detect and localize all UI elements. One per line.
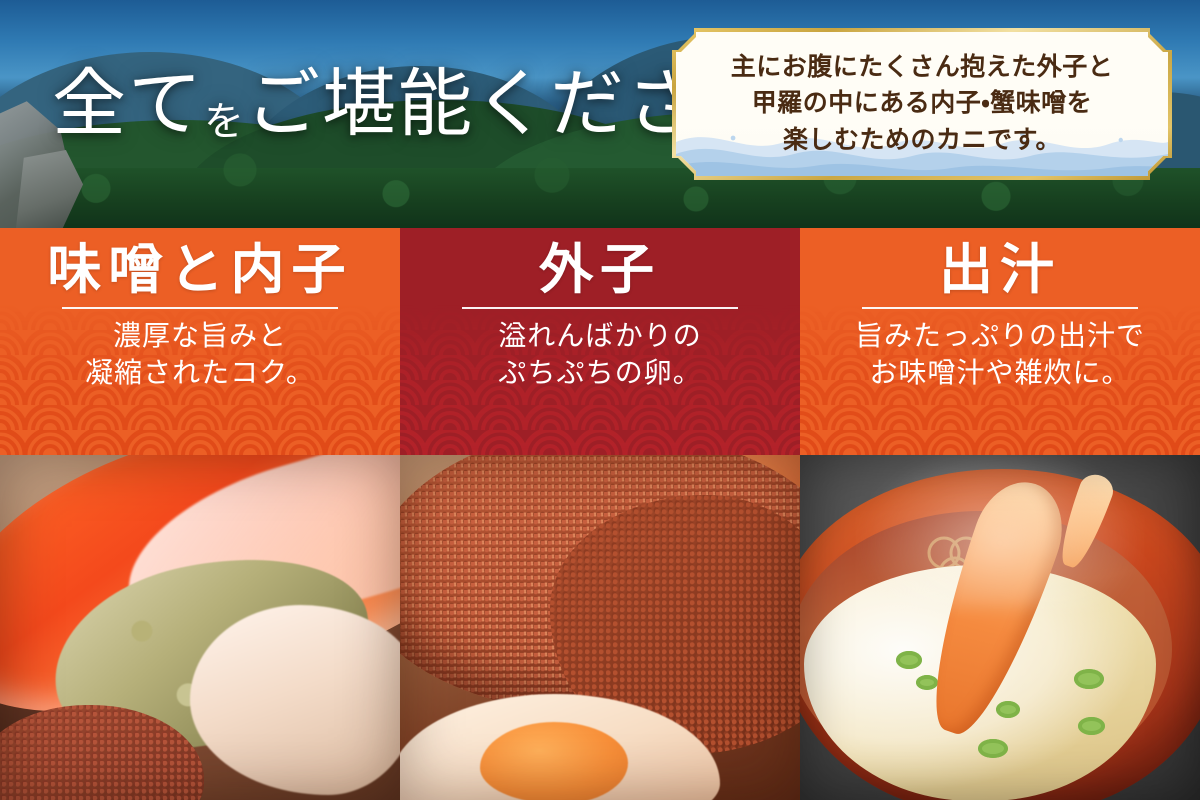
panel-description-line-2: 凝縮されたコク。 — [85, 355, 315, 393]
panel-description: 溢れんばかりの ぷちぷちの卵。 — [498, 318, 702, 393]
description-line-1: 主にお腹にたくさん抱えた外子と — [731, 50, 1114, 86]
photo-vignette — [0, 455, 400, 800]
feature-panel-sotoko[interactable]: 外子 溢れんばかりの ぷちぷちの卵。 — [400, 228, 800, 455]
panel-divider — [862, 307, 1138, 309]
feature-panel-dashi[interactable]: 出汁 旨みたっぷりの出汁で お味噌汁や雑炊に。 — [800, 228, 1200, 455]
panel-title: 味噌と内子 — [48, 242, 353, 299]
description-line-2: 甲羅の中にある内子・蟹味噌を — [752, 86, 1093, 122]
panel-divider — [62, 307, 338, 309]
panel-description-line-1: 旨みたっぷりの出汁で — [855, 318, 1145, 356]
photo-row — [0, 455, 1200, 800]
panel-divider — [462, 307, 738, 309]
headline-particle: を — [204, 99, 246, 144]
promo-banner: 全てをご堪能ください 主にお腹にたくさん抱えた外子と 甲羅の中にある内子・蟹味噌… — [0, 0, 1200, 800]
photo-miso-soup — [800, 455, 1200, 800]
photo-crab-miso — [0, 455, 400, 800]
panel-description-line-2: お味噌汁や雑炊に。 — [855, 355, 1145, 393]
photo-crab-roe — [400, 455, 800, 800]
photo-vignette — [400, 455, 800, 800]
headline-part1: 全て — [52, 64, 204, 146]
description-text: 主にお腹にたくさん抱えた外子と 甲羅の中にある内子・蟹味噌を 楽しむためのカニで… — [676, 32, 1168, 176]
description-panel: 主にお腹にたくさん抱えた外子と 甲羅の中にある内子・蟹味噌を 楽しむためのカニで… — [672, 28, 1172, 180]
panel-description: 旨みたっぷりの出汁で お味噌汁や雑炊に。 — [855, 318, 1145, 393]
panel-description-line-2: ぷちぷちの卵。 — [498, 355, 702, 393]
panel-title: 出汁 — [939, 242, 1061, 299]
panel-description-line-1: 溢れんばかりの — [498, 318, 702, 356]
feature-panel-miso-uchiko[interactable]: 味噌と内子 濃厚な旨みと 凝縮されたコク。 — [0, 228, 400, 455]
page-title: 全てをご堪能ください — [52, 68, 778, 142]
panel-description: 濃厚な旨みと 凝縮されたコク。 — [85, 318, 315, 393]
panel-title: 外子 — [539, 242, 661, 299]
panel-description-line-1: 濃厚な旨みと — [85, 318, 315, 356]
panel-inner: 主にお腹にたくさん抱えた外子と 甲羅の中にある内子・蟹味噌を 楽しむためのカニで… — [676, 32, 1168, 176]
description-line-3: 楽しむためのカニです。 — [783, 123, 1061, 159]
feature-panels: 味噌と内子 濃厚な旨みと 凝縮されたコク。 — [0, 228, 1200, 455]
photo-vignette — [800, 455, 1200, 800]
